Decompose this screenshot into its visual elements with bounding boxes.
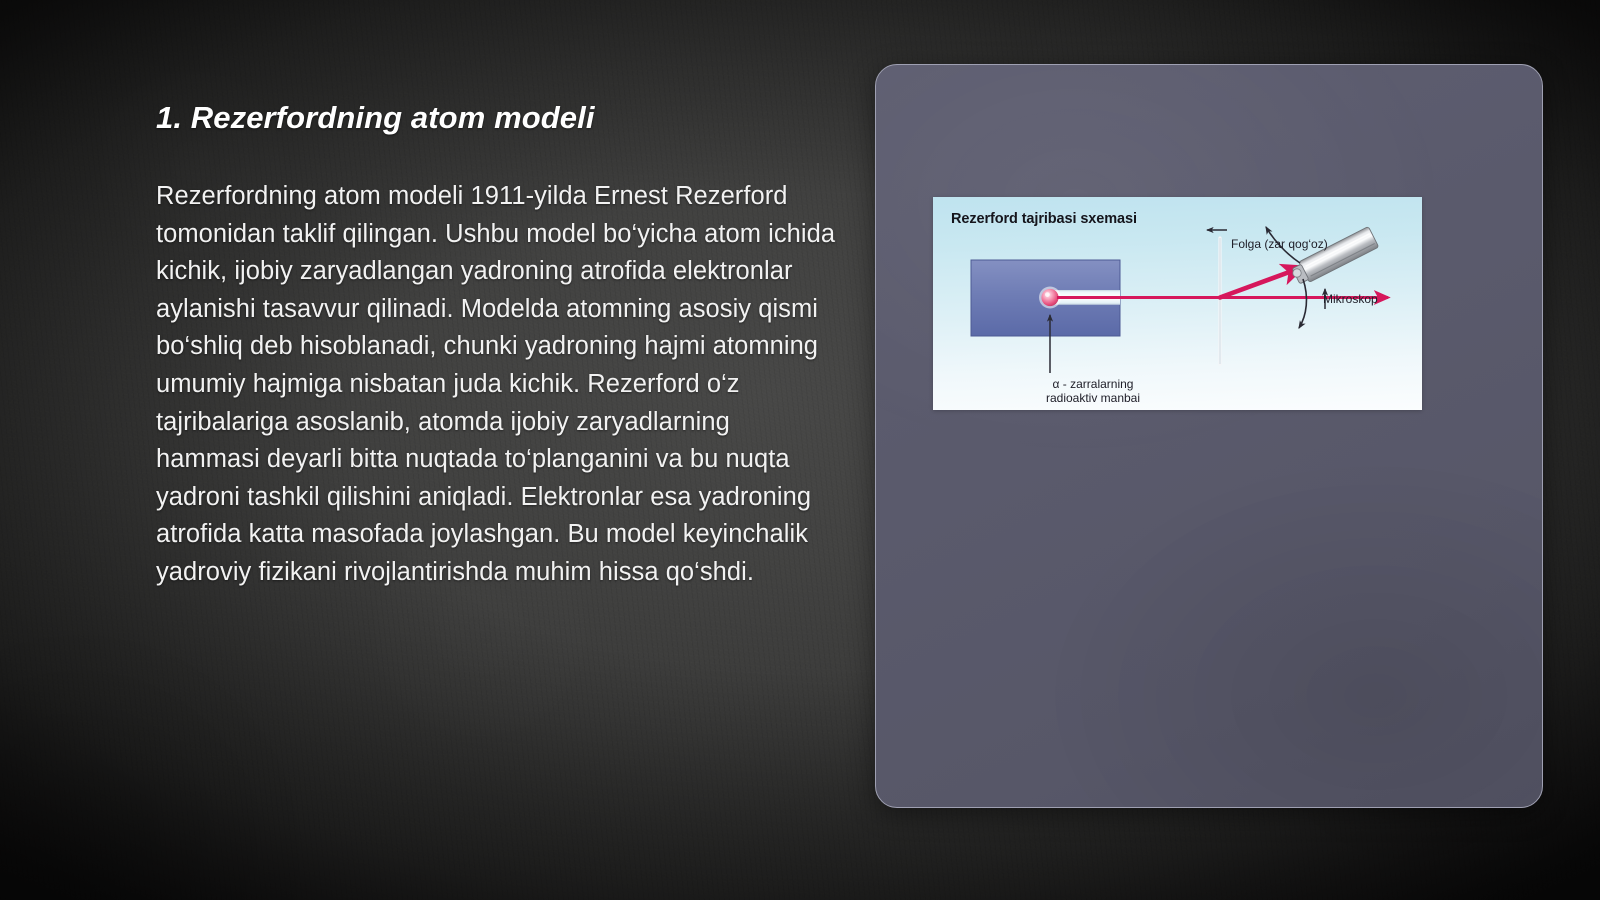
text-column: 1. Rezerfordning atom modeli Rezerfordni… — [156, 100, 836, 592]
microscope-body — [1291, 227, 1379, 287]
rutherford-experiment-diagram: Rezerford tajribasi sxemasi Folga (zar q… — [933, 197, 1422, 410]
page-title: 1. Rezerfordning atom modeli — [156, 100, 836, 136]
slide-root: 1. Rezerfordning atom modeli Rezerfordni… — [0, 0, 1600, 900]
diagram-label-microscope: Mikroskop — [1323, 292, 1378, 306]
diagram-title: Rezerford tajribasi sxemasi — [951, 211, 1137, 227]
body-paragraph: Rezerfordning atom modeli 1911-yilda Ern… — [156, 178, 836, 592]
diagram-label-source-line1: α - zarralarning — [1053, 377, 1134, 391]
rotation-arrow-down — [1299, 279, 1306, 328]
diagram-label-source-line2: radioaktiv manbai — [1046, 391, 1140, 405]
diagram-label-source: α - zarralarning radioaktiv manbai — [1028, 377, 1158, 405]
scintillation-screen — [1293, 269, 1301, 277]
alpha-beam-deflected — [1220, 267, 1303, 298]
diagram-label-foil: Folga (zar qog‘oz) — [1231, 237, 1328, 251]
media-card: Rezerford tajribasi sxemasi Folga (zar q… — [875, 64, 1543, 808]
card-inner-highlight — [876, 65, 1542, 807]
